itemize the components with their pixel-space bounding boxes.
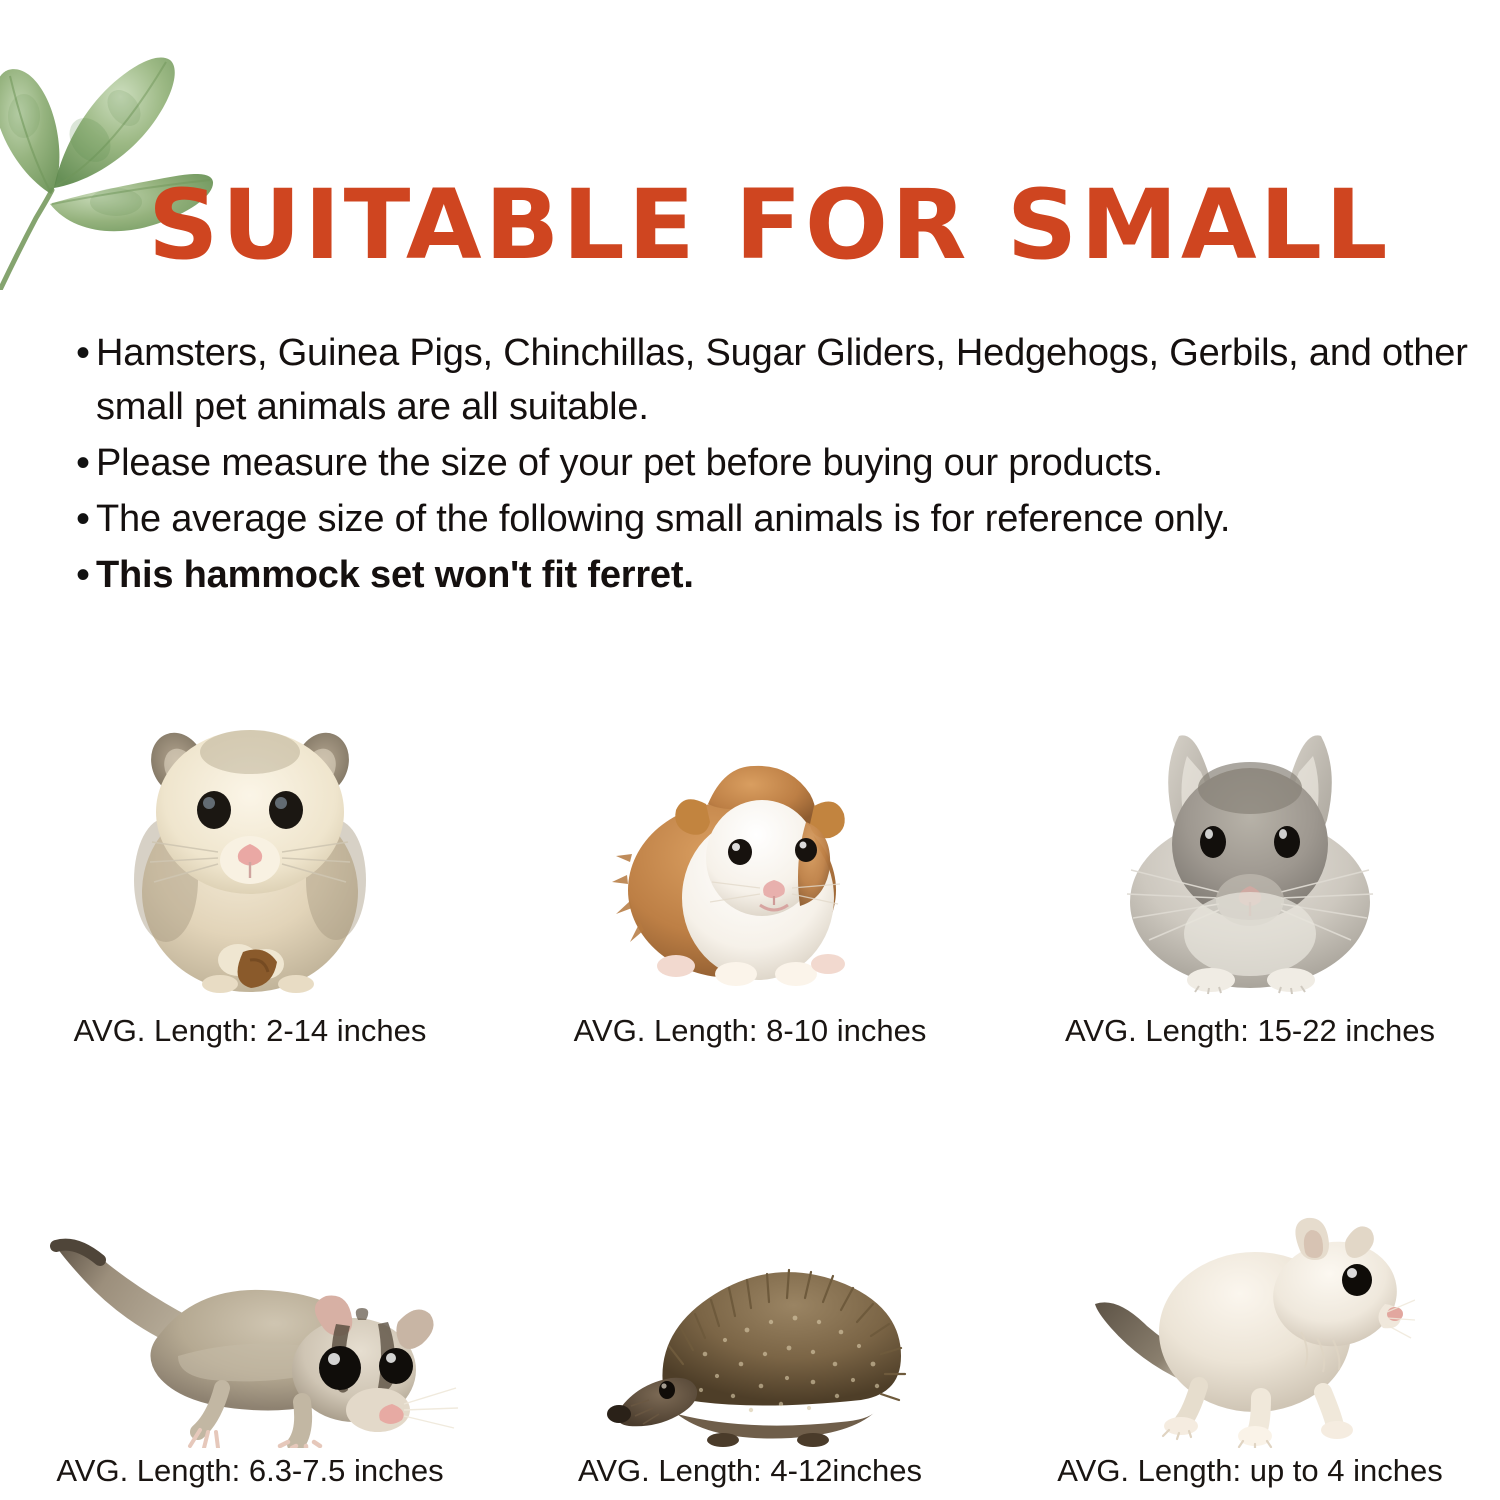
- chinchilla-photo: [1095, 702, 1405, 1002]
- list-item: • This hammock set won't fit ferret.: [62, 548, 1492, 602]
- animal-card-sugar-glider: AVG. Length: 6.3-7.5 inches: [0, 1190, 500, 1490]
- animal-row-2: AVG. Length: 6.3-7.5 inches: [0, 1190, 1500, 1490]
- feature-bullet-list: • Hamsters, Guinea Pigs, Chinchillas, Su…: [62, 326, 1492, 604]
- list-item: • Hamsters, Guinea Pigs, Chinchillas, Su…: [62, 326, 1492, 434]
- animal-caption: AVG. Length: 8-10 inches: [574, 1012, 927, 1050]
- bullet-marker-icon: •: [62, 326, 96, 380]
- list-item-label: This hammock set won't fit ferret.: [96, 548, 1492, 602]
- sugar-glider-photo: [40, 1218, 460, 1448]
- animal-caption: AVG. Length: up to 4 inches: [1057, 1452, 1442, 1490]
- animal-card-chinchilla: AVG. Length: 15-22 inches: [1000, 690, 1500, 1050]
- bullet-marker-icon: •: [62, 492, 96, 546]
- animal-card-gerbil: AVG. Length: up to 4 inches: [1000, 1190, 1500, 1490]
- animal-caption: AVG. Length: 4-12inches: [578, 1452, 922, 1490]
- animal-caption: AVG. Length: 6.3-7.5 inches: [56, 1452, 443, 1490]
- hedgehog-photo: [585, 1218, 915, 1448]
- bullet-marker-icon: •: [62, 436, 96, 490]
- animal-caption: AVG. Length: 2-14 inches: [74, 1012, 427, 1050]
- animal-card-hamster: AVG. Length: 2-14 inches: [0, 690, 500, 1050]
- page-title-text: SUITABLE FOR SMALL PETS: [148, 170, 1408, 280]
- list-item: • The average size of the following smal…: [62, 492, 1492, 546]
- guinea-pig-photo: [600, 712, 900, 1002]
- page-title: SUITABLE FOR SMALL PETS: [148, 170, 1408, 280]
- list-item-label: The average size of the following small …: [96, 492, 1492, 546]
- infographic-page: SUITABLE FOR SMALL PETS • Hamsters, Guin…: [0, 0, 1500, 1500]
- gerbil-photo: [1085, 1208, 1415, 1448]
- list-item: • Please measure the size of your pet be…: [62, 436, 1492, 490]
- list-item-label: Please measure the size of your pet befo…: [96, 436, 1492, 490]
- hamster-photo: [100, 702, 400, 1002]
- animal-caption: AVG. Length: 15-22 inches: [1065, 1012, 1435, 1050]
- bullet-marker-icon: •: [62, 548, 96, 602]
- animal-card-hedgehog: AVG. Length: 4-12inches: [500, 1190, 1000, 1490]
- list-item-label: Hamsters, Guinea Pigs, Chinchillas, Suga…: [96, 326, 1492, 434]
- animal-row-1: AVG. Length: 2-14 inches: [0, 690, 1500, 1050]
- animal-card-guinea-pig: AVG. Length: 8-10 inches: [500, 690, 1000, 1050]
